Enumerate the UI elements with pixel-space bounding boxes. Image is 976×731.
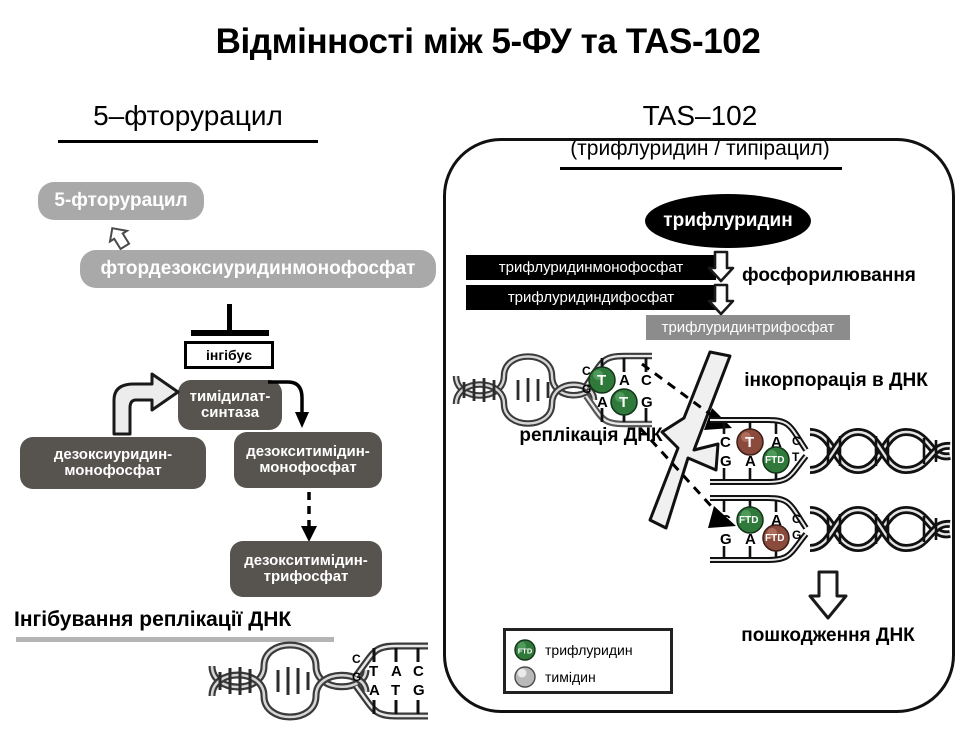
inhibition-of-dna-replication-label: Інгібування реплікації ДНК bbox=[14, 608, 344, 632]
dna-fork-left bbox=[356, 646, 428, 716]
base-top-1: A bbox=[391, 663, 402, 680]
inhibition-bar bbox=[191, 330, 269, 336]
base-inct-bot-1: A bbox=[745, 453, 756, 470]
dna-figure-incorporated-top: C T C T A G A FTD bbox=[706, 412, 954, 495]
open-arrow-to-dna-damage bbox=[806, 570, 850, 625]
node-fdump: фтордезоксиуридинмонофосфат bbox=[80, 250, 436, 288]
base-fork-top: C bbox=[792, 434, 801, 448]
base-incb-bot-1: A bbox=[745, 531, 756, 548]
legend-item-thymidine: тимідин bbox=[514, 663, 662, 690]
base-top-2: C bbox=[413, 663, 424, 680]
inhibition-stem bbox=[227, 304, 232, 332]
dna-helix-incorp-bottom bbox=[810, 510, 950, 548]
node-dump-label: дезоксиуридин-монофосфат bbox=[54, 447, 172, 479]
base-fork-bottom: T bbox=[792, 450, 799, 464]
node-dtmp: дезокситимідин-монофосфат bbox=[234, 432, 382, 488]
base-incb-bot-2: FTD bbox=[765, 533, 784, 544]
page-title: Відмінності між 5-ФУ та TAS-102 bbox=[0, 22, 976, 62]
base-incb-top-2: A bbox=[771, 512, 782, 529]
node-trifluridine: трифлуридин bbox=[645, 194, 811, 248]
node-thymidylate-synthase-label: тимідилат-синтаза bbox=[190, 389, 271, 421]
node-fluorouracil: 5-фторурацил bbox=[38, 182, 204, 220]
open-arrow-phosphorylation-2 bbox=[706, 283, 736, 320]
open-curved-arrow-dump-to-ts bbox=[104, 372, 190, 443]
base-inct-bot-2: FTD bbox=[765, 455, 784, 466]
base-rep-bottom-1: T bbox=[619, 394, 628, 411]
legend-item-trifluridine: FTD трифлуридин bbox=[514, 636, 662, 663]
thymidine-gray-icon bbox=[514, 666, 536, 688]
base-fork-bottom: G bbox=[352, 670, 361, 684]
base-incb-top-0: C bbox=[720, 512, 731, 529]
dna-helix-left bbox=[212, 645, 366, 717]
node-dtmp-label: дезокситимідин-монофосфат bbox=[246, 444, 370, 476]
base-fork-top: C bbox=[352, 652, 361, 666]
phosphorylation-label: фосфорилювання bbox=[742, 265, 956, 287]
node-dttp-label: дезокситимідин-трифосфат bbox=[244, 553, 368, 585]
base-fork-top: C bbox=[792, 512, 801, 526]
base-rep-top-1: A bbox=[619, 372, 630, 389]
open-arrow-phosphorylation-1 bbox=[706, 250, 736, 287]
base-incb-top-1: FTD bbox=[739, 515, 758, 526]
base-fork-bottom: G bbox=[582, 382, 591, 396]
base-fork-bottom: G bbox=[792, 528, 801, 542]
left-heading-underline bbox=[58, 140, 318, 143]
dna-figure-incorporated-bottom: C G C FTD A G A FTD bbox=[706, 490, 954, 573]
node-dttp: дезокситимідин-трифосфат bbox=[230, 541, 382, 597]
base-bottom-2: G bbox=[413, 682, 425, 699]
node-dump: дезоксиуридин-монофосфат bbox=[20, 437, 206, 489]
inhibits-label-box: інгібує bbox=[184, 341, 274, 369]
bar-trifluridine-triphosphate: трифлуридинтрифосфат bbox=[646, 315, 850, 340]
base-top-0: T bbox=[369, 663, 378, 680]
bar-trifluridine-monophosphate: трифлуридинмонофосфат bbox=[466, 255, 716, 280]
base-inct-top-1: T bbox=[745, 434, 754, 451]
base-incb-bot-0: G bbox=[720, 531, 732, 548]
legend: FTD трифлуридин тимідин bbox=[503, 628, 673, 694]
dna-damage-label: пошкодження ДНК bbox=[700, 625, 956, 647]
right-column-heading: TAS–102 bbox=[530, 100, 870, 132]
base-rep-bottom-0: A bbox=[597, 394, 608, 411]
base-rep-top-0: T bbox=[597, 372, 606, 389]
ftd-green-icon: FTD bbox=[514, 639, 536, 661]
dna-helix-replication bbox=[456, 357, 594, 424]
legend-label-thymidine: тимідин bbox=[545, 669, 596, 685]
dna-figure-replication: C G T A C A T G bbox=[452, 348, 652, 437]
left-column-heading: 5–фторурацил bbox=[48, 100, 328, 132]
base-inct-bot-0: G bbox=[720, 453, 732, 470]
base-inct-top-2: A bbox=[771, 434, 782, 451]
dna-figure-left: C G T A C A T G bbox=[206, 636, 430, 731]
legend-label-trifluridine: трифлуридин bbox=[545, 642, 633, 658]
base-bottom-1: T bbox=[391, 682, 400, 699]
base-bottom-0: A bbox=[369, 682, 380, 699]
arrow-ts-to-dtmp bbox=[266, 378, 322, 439]
bar-trifluridine-diphosphate: трифлуридиндифосфат bbox=[466, 285, 716, 310]
base-inct-top-0: C bbox=[720, 434, 731, 451]
dna-helix-incorp-top bbox=[810, 432, 950, 470]
base-fork-top: C bbox=[582, 364, 591, 378]
svg-text:FTD: FTD bbox=[518, 646, 533, 655]
